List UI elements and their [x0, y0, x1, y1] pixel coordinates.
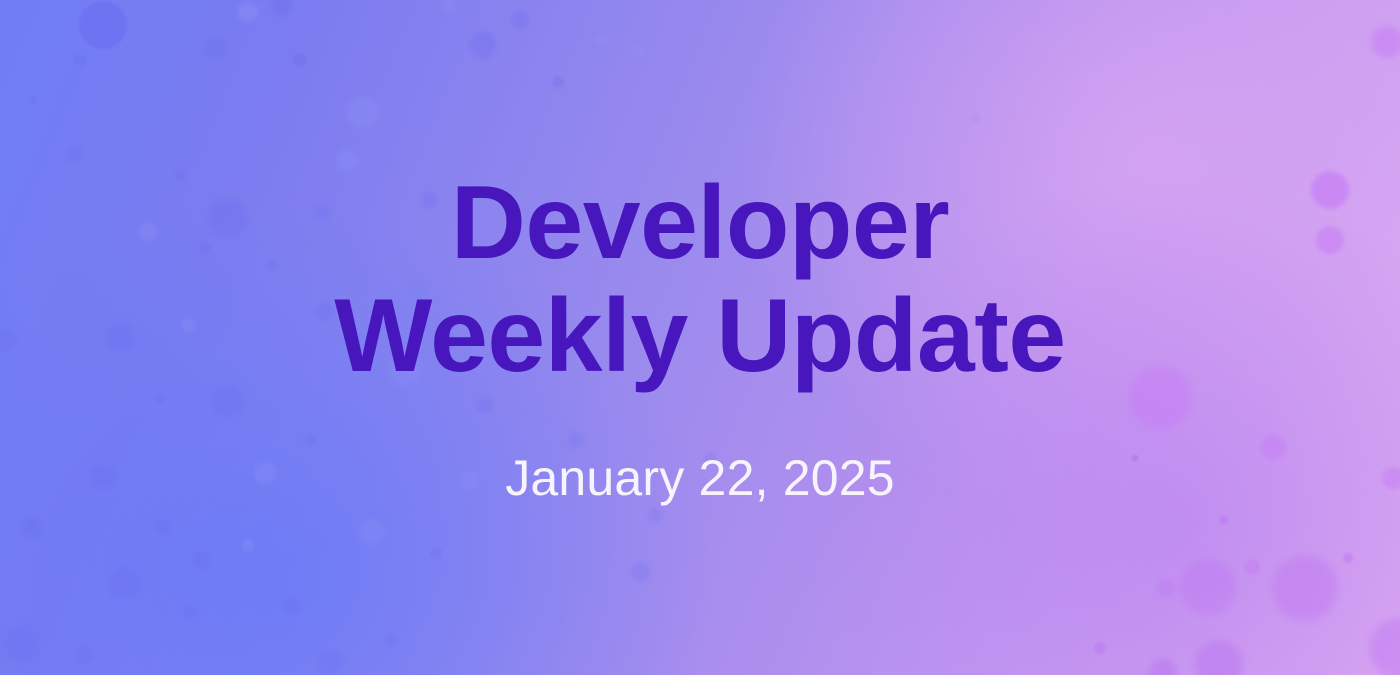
- issue-date: January 22, 2025: [505, 449, 895, 507]
- page-title: Developer Weekly Update: [334, 168, 1065, 390]
- title-line-one: Developer: [334, 168, 1065, 278]
- banner-content: Developer Weekly Update January 22, 2025: [0, 0, 1400, 675]
- title-line-two: Weekly Update: [334, 281, 1065, 391]
- developer-weekly-update-banner: Developer Weekly Update January 22, 2025: [0, 0, 1400, 675]
